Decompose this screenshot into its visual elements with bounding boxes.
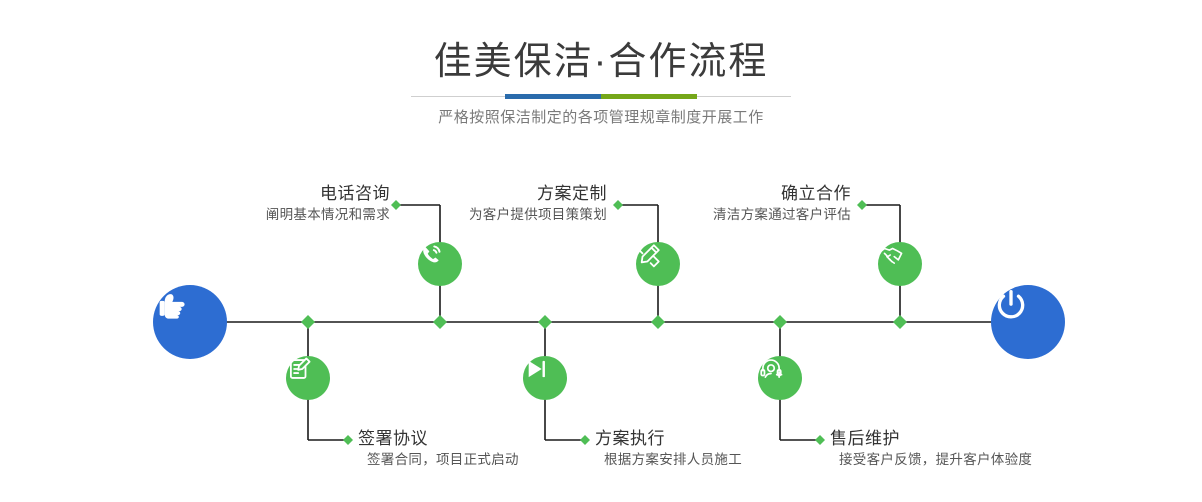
header: 佳美保洁·合作流程 严格按照保洁制定的各项管理规章制度开展工作 [0, 0, 1202, 150]
step-node-1[interactable] [418, 242, 462, 286]
step-node-6[interactable] [758, 356, 802, 400]
step-node-3[interactable] [636, 242, 680, 286]
step-title-6: 售后维护 [830, 428, 1170, 450]
label-diamond-step-2 [343, 435, 353, 445]
page-title: 佳美保洁·合作流程 [0, 38, 1202, 86]
title-divider [411, 95, 791, 97]
divider-left-rule [411, 96, 505, 97]
flow-diagram: 电话咨询 阐明基本情况和需求 方案定制 为客户提供项目策策划 确立合作 清洁方案… [0, 150, 1202, 502]
page-subtitle: 严格按照保洁制定的各项管理规章制度开展工作 [0, 106, 1202, 130]
step-label-6: 售后维护 接受客户反馈，提升客户体验度 [830, 428, 1170, 470]
flow-start-endpoint[interactable] [153, 285, 227, 359]
axis-diamond-step-3 [651, 315, 665, 329]
step-label-5: 确立合作 清洁方案通过客户评估 [551, 183, 851, 225]
divider-green-segment [601, 94, 697, 99]
step-desc-6: 接受客户反馈，提升客户体验度 [839, 450, 1170, 470]
axis-diamond-step-5 [893, 315, 907, 329]
axis-diamond-step-6 [773, 315, 787, 329]
step-node-5[interactable] [878, 242, 922, 286]
step-desc-5: 清洁方案通过客户评估 [551, 205, 851, 225]
divider-blue-segment [505, 94, 601, 99]
label-diamond-step-5 [857, 200, 867, 210]
process-flow-infographic: 佳美保洁·合作流程 严格按照保洁制定的各项管理规章制度开展工作 [0, 0, 1202, 502]
axis-diamond-step-1 [433, 315, 447, 329]
axis-diamond-step-2 [301, 315, 315, 329]
step-node-4[interactable] [523, 356, 567, 400]
step-node-2[interactable] [286, 356, 330, 400]
axis-diamond-step-4 [538, 315, 552, 329]
step-title-5: 确立合作 [551, 183, 851, 205]
flow-end-endpoint[interactable] [991, 285, 1065, 359]
divider-right-rule [697, 96, 791, 97]
